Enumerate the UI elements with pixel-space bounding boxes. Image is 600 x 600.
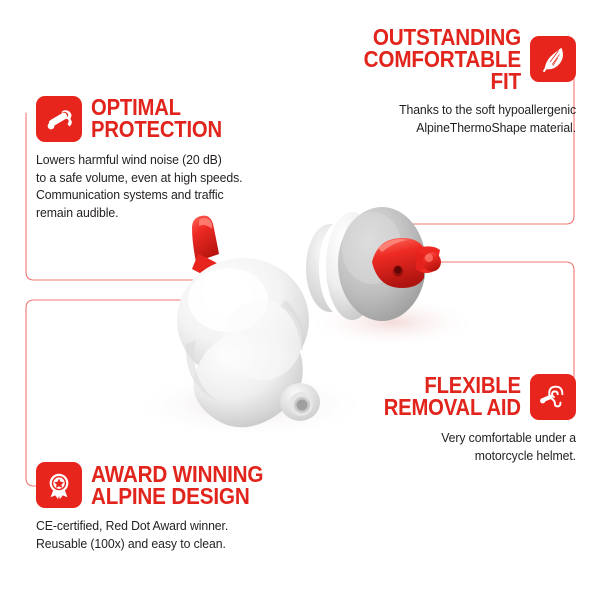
earplug-front (177, 216, 320, 428)
callout-header: OUTSTANDING COMFORTABLE FIT (340, 26, 576, 92)
infographic-canvas: OPTIMAL PROTECTION Lowers harmful wind n… (0, 0, 600, 600)
ear-icon (530, 374, 576, 420)
callout-body: CE-certified, Red Dot Award winner. Reus… (36, 517, 296, 552)
callout-header: FLEXIBLE REMOVAL AID (330, 374, 576, 420)
callout-heading: OPTIMAL PROTECTION (91, 97, 222, 140)
callout-flexible-removal-aid: FLEXIBLE REMOVAL AID Very comfortable un… (330, 374, 576, 464)
callout-header: AWARD WINNING ALPINE DESIGN (36, 462, 316, 508)
callout-header: OPTIMAL PROTECTION (36, 96, 296, 142)
callout-body: Thanks to the soft hypoallergenic Alpine… (357, 101, 576, 136)
feather-icon (530, 36, 576, 82)
earplug-icon (36, 96, 82, 142)
callout-award-winning-alpine-design: AWARD WINNING ALPINE DESIGN CE-certified… (36, 462, 316, 552)
callout-heading: AWARD WINNING ALPINE DESIGN (91, 463, 263, 507)
callout-heading: OUTSTANDING COMFORTABLE FIT (362, 26, 521, 92)
callout-body: Very comfortable under a motorcycle helm… (347, 429, 576, 464)
callout-heading: FLEXIBLE REMOVAL AID (384, 375, 521, 418)
connector-award-winning (26, 300, 212, 486)
earplug-rear (306, 207, 441, 321)
callout-body: Lowers harmful wind noise (20 dB) to a s… (36, 151, 278, 221)
callout-optimal-protection: OPTIMAL PROTECTION Lowers harmful wind n… (36, 96, 296, 221)
connector-endpoint-dot (428, 257, 437, 266)
award-medal-icon (36, 462, 82, 508)
callout-outstanding-comfortable-fit: OUTSTANDING COMFORTABLE FIT Thanks to th… (340, 26, 576, 136)
